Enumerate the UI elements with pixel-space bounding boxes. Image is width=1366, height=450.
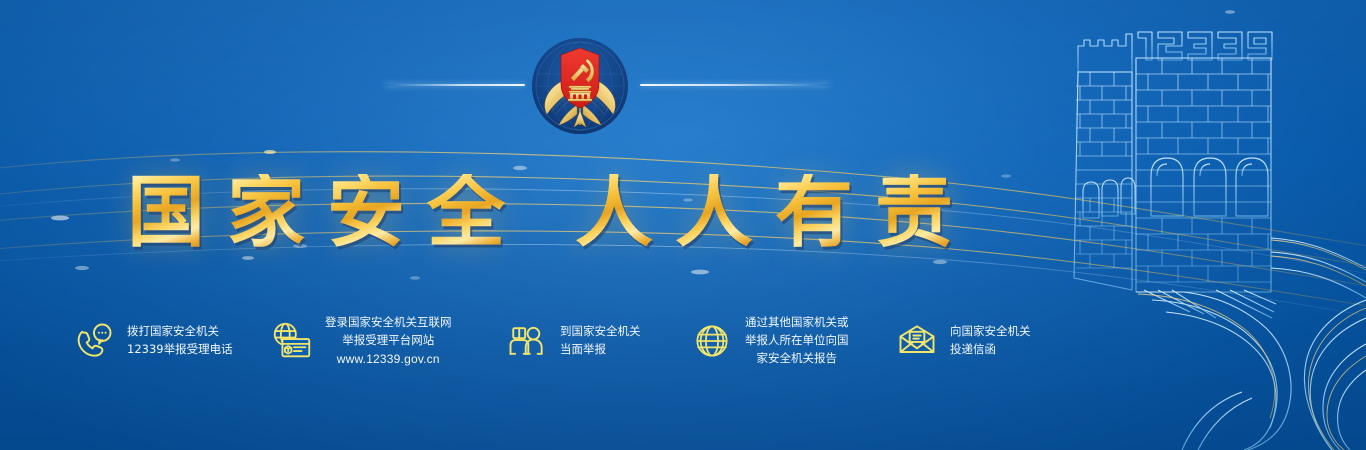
- channel-line: 家安全机关报告: [745, 350, 849, 368]
- channel-line: 当面举报: [560, 341, 641, 359]
- channel-line: 举报人所在单位向国: [745, 332, 849, 350]
- channel-url[interactable]: www.12339.gov.cn: [325, 350, 452, 369]
- channel-in-person[interactable]: 到国家安全机关 当面举报: [503, 306, 688, 376]
- headline-char: 安: [327, 174, 405, 252]
- headline-char: 家: [227, 174, 305, 252]
- headline-char: 国: [127, 174, 205, 252]
- globe-grid-icon: [688, 317, 736, 365]
- headline-char: 人: [575, 174, 653, 252]
- headline-char: 人: [675, 174, 753, 252]
- channel-line: 通过其他国家机关或: [745, 314, 849, 332]
- channel-line: 向国家安全机关: [950, 323, 1031, 341]
- channel-website[interactable]: 登录国家安全机关互联网 举报受理平台网站 www.12339.gov.cn: [268, 306, 503, 376]
- national-security-emblem: [530, 36, 630, 136]
- envelope-letter-icon: [893, 317, 941, 365]
- channel-phone[interactable]: 拨打国家安全机关 12339举报受理电话: [70, 306, 268, 376]
- channel-other-organs[interactable]: 通过其他国家机关或 举报人所在单位向国 家安全机关报告: [688, 306, 893, 376]
- light-streak-right: [640, 84, 830, 86]
- two-people-icon: [503, 317, 551, 365]
- light-streak-left: [385, 84, 525, 86]
- globe-browser-icon: [268, 317, 316, 365]
- headline-char: 有: [775, 174, 853, 252]
- tower-number-12339: [1138, 32, 1272, 60]
- channel-other-organs-text: 通过其他国家机关或 举报人所在单位向国 家安全机关报告: [745, 314, 849, 367]
- channel-line: 到国家安全机关: [560, 323, 641, 341]
- channel-letter[interactable]: 向国家安全机关 投递信函: [893, 306, 1073, 376]
- reporting-channels-row: 拨打国家安全机关 12339举报受理电话 登录国家安全机关互联网: [70, 306, 1080, 390]
- channel-line: 拨打国家安全机关: [127, 323, 233, 341]
- headline-char: 全: [427, 174, 505, 252]
- channel-letter-text: 向国家安全机关 投递信函: [950, 323, 1031, 359]
- channel-in-person-text: 到国家安全机关 当面举报: [560, 323, 641, 359]
- channel-line: 投递信函: [950, 341, 1031, 359]
- channel-line: 登录国家安全机关互联网: [325, 314, 452, 332]
- great-wall-illustration: [1066, 0, 1366, 450]
- phone-chat-icon: [70, 317, 118, 365]
- page-title: 国 家 安 全 人 人 有 责: [0, 158, 1080, 268]
- channel-line: 12339举报受理电话: [127, 341, 233, 359]
- channel-line: 举报受理平台网站: [325, 332, 452, 350]
- national-security-banner: 国 家 安 全 人 人 有 责 拨打国家安全机关: [0, 0, 1366, 450]
- channel-website-text: 登录国家安全机关互联网 举报受理平台网站 www.12339.gov.cn: [325, 314, 452, 368]
- channel-phone-text: 拨打国家安全机关 12339举报受理电话: [127, 323, 233, 359]
- headline-char: 责: [875, 174, 953, 252]
